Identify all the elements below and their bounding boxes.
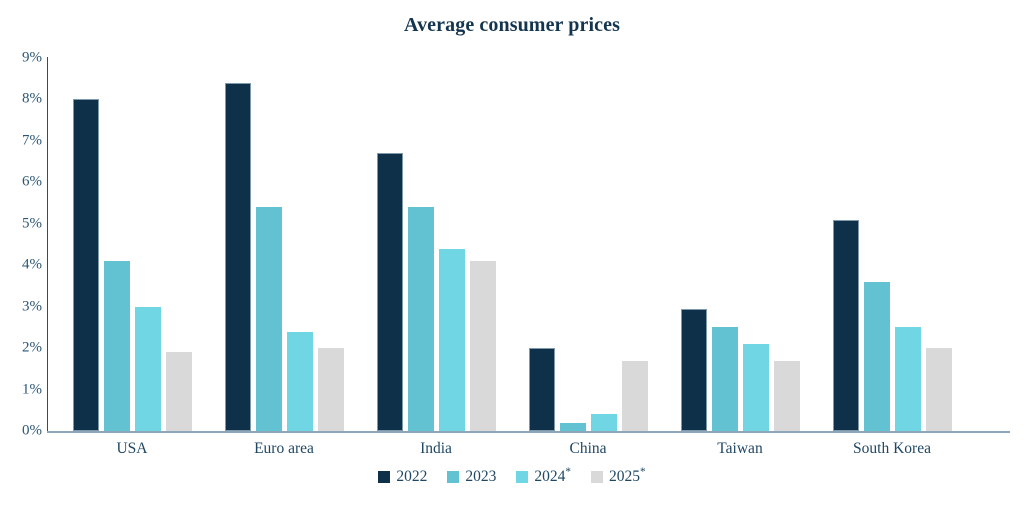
y-axis-tick: 0%: [4, 424, 42, 439]
bar-group: [377, 58, 496, 431]
legend-item[interactable]: 2024*: [516, 468, 571, 486]
bar[interactable]: [73, 99, 99, 431]
bar[interactable]: [318, 348, 344, 431]
bar[interactable]: [622, 361, 648, 431]
bar-group: [833, 58, 952, 431]
bar[interactable]: [712, 327, 738, 431]
legend-label: 2024*: [534, 468, 571, 486]
bar[interactable]: [256, 207, 282, 431]
bar[interactable]: [470, 261, 496, 431]
bar[interactable]: [560, 423, 586, 431]
bar[interactable]: [166, 352, 192, 431]
legend-item[interactable]: 2025*: [591, 468, 646, 486]
bar[interactable]: [225, 83, 251, 431]
bar[interactable]: [377, 153, 403, 431]
bar-group: [529, 58, 648, 431]
page-title: Average consumer prices: [0, 14, 1024, 37]
bar[interactable]: [864, 282, 890, 431]
y-axis-tick: 8%: [4, 92, 42, 107]
legend-item[interactable]: 2023: [447, 468, 496, 486]
y-axis-tick: 4%: [4, 258, 42, 273]
bar[interactable]: [135, 307, 161, 431]
bar[interactable]: [287, 332, 313, 431]
y-axis-tick: 5%: [4, 216, 42, 231]
x-axis-category-label: South Korea: [792, 440, 992, 458]
bar-group: [681, 58, 800, 431]
y-axis-tick: 1%: [4, 382, 42, 397]
y-axis-tick: 6%: [4, 175, 42, 190]
legend-swatch-icon: [591, 471, 603, 483]
legend-item[interactable]: 2022: [378, 468, 427, 486]
bar[interactable]: [529, 348, 555, 431]
y-axis-tick: 7%: [4, 133, 42, 148]
legend-swatch-icon: [378, 471, 390, 483]
y-axis-line: [47, 57, 48, 432]
bar[interactable]: [895, 327, 921, 431]
bar[interactable]: [743, 344, 769, 431]
bar[interactable]: [681, 309, 707, 431]
chart-legend: 202220232024*2025*: [0, 468, 1024, 486]
bar[interactable]: [774, 361, 800, 431]
y-axis-tick-labels: 0%1%2%3%4%5%6%7%8%9%: [0, 0, 42, 505]
legend-swatch-icon: [516, 471, 528, 483]
legend-label: 2022: [396, 468, 427, 486]
bar[interactable]: [591, 414, 617, 431]
x-axis-line: [47, 431, 1010, 433]
bar[interactable]: [104, 261, 130, 431]
y-axis-tick: 9%: [4, 51, 42, 66]
legend-swatch-icon: [447, 471, 459, 483]
y-axis-tick: 2%: [4, 341, 42, 356]
bar[interactable]: [408, 207, 434, 431]
bar[interactable]: [439, 249, 465, 431]
bar[interactable]: [833, 220, 859, 431]
bar[interactable]: [926, 348, 952, 431]
bar-group: [73, 58, 192, 431]
y-axis-tick: 3%: [4, 299, 42, 314]
chart-figure: Average consumer prices 0%1%2%3%4%5%6%7%…: [0, 0, 1024, 505]
legend-label: 2023: [465, 468, 496, 486]
legend-label: 2025*: [609, 468, 646, 486]
bar-group: [225, 58, 344, 431]
